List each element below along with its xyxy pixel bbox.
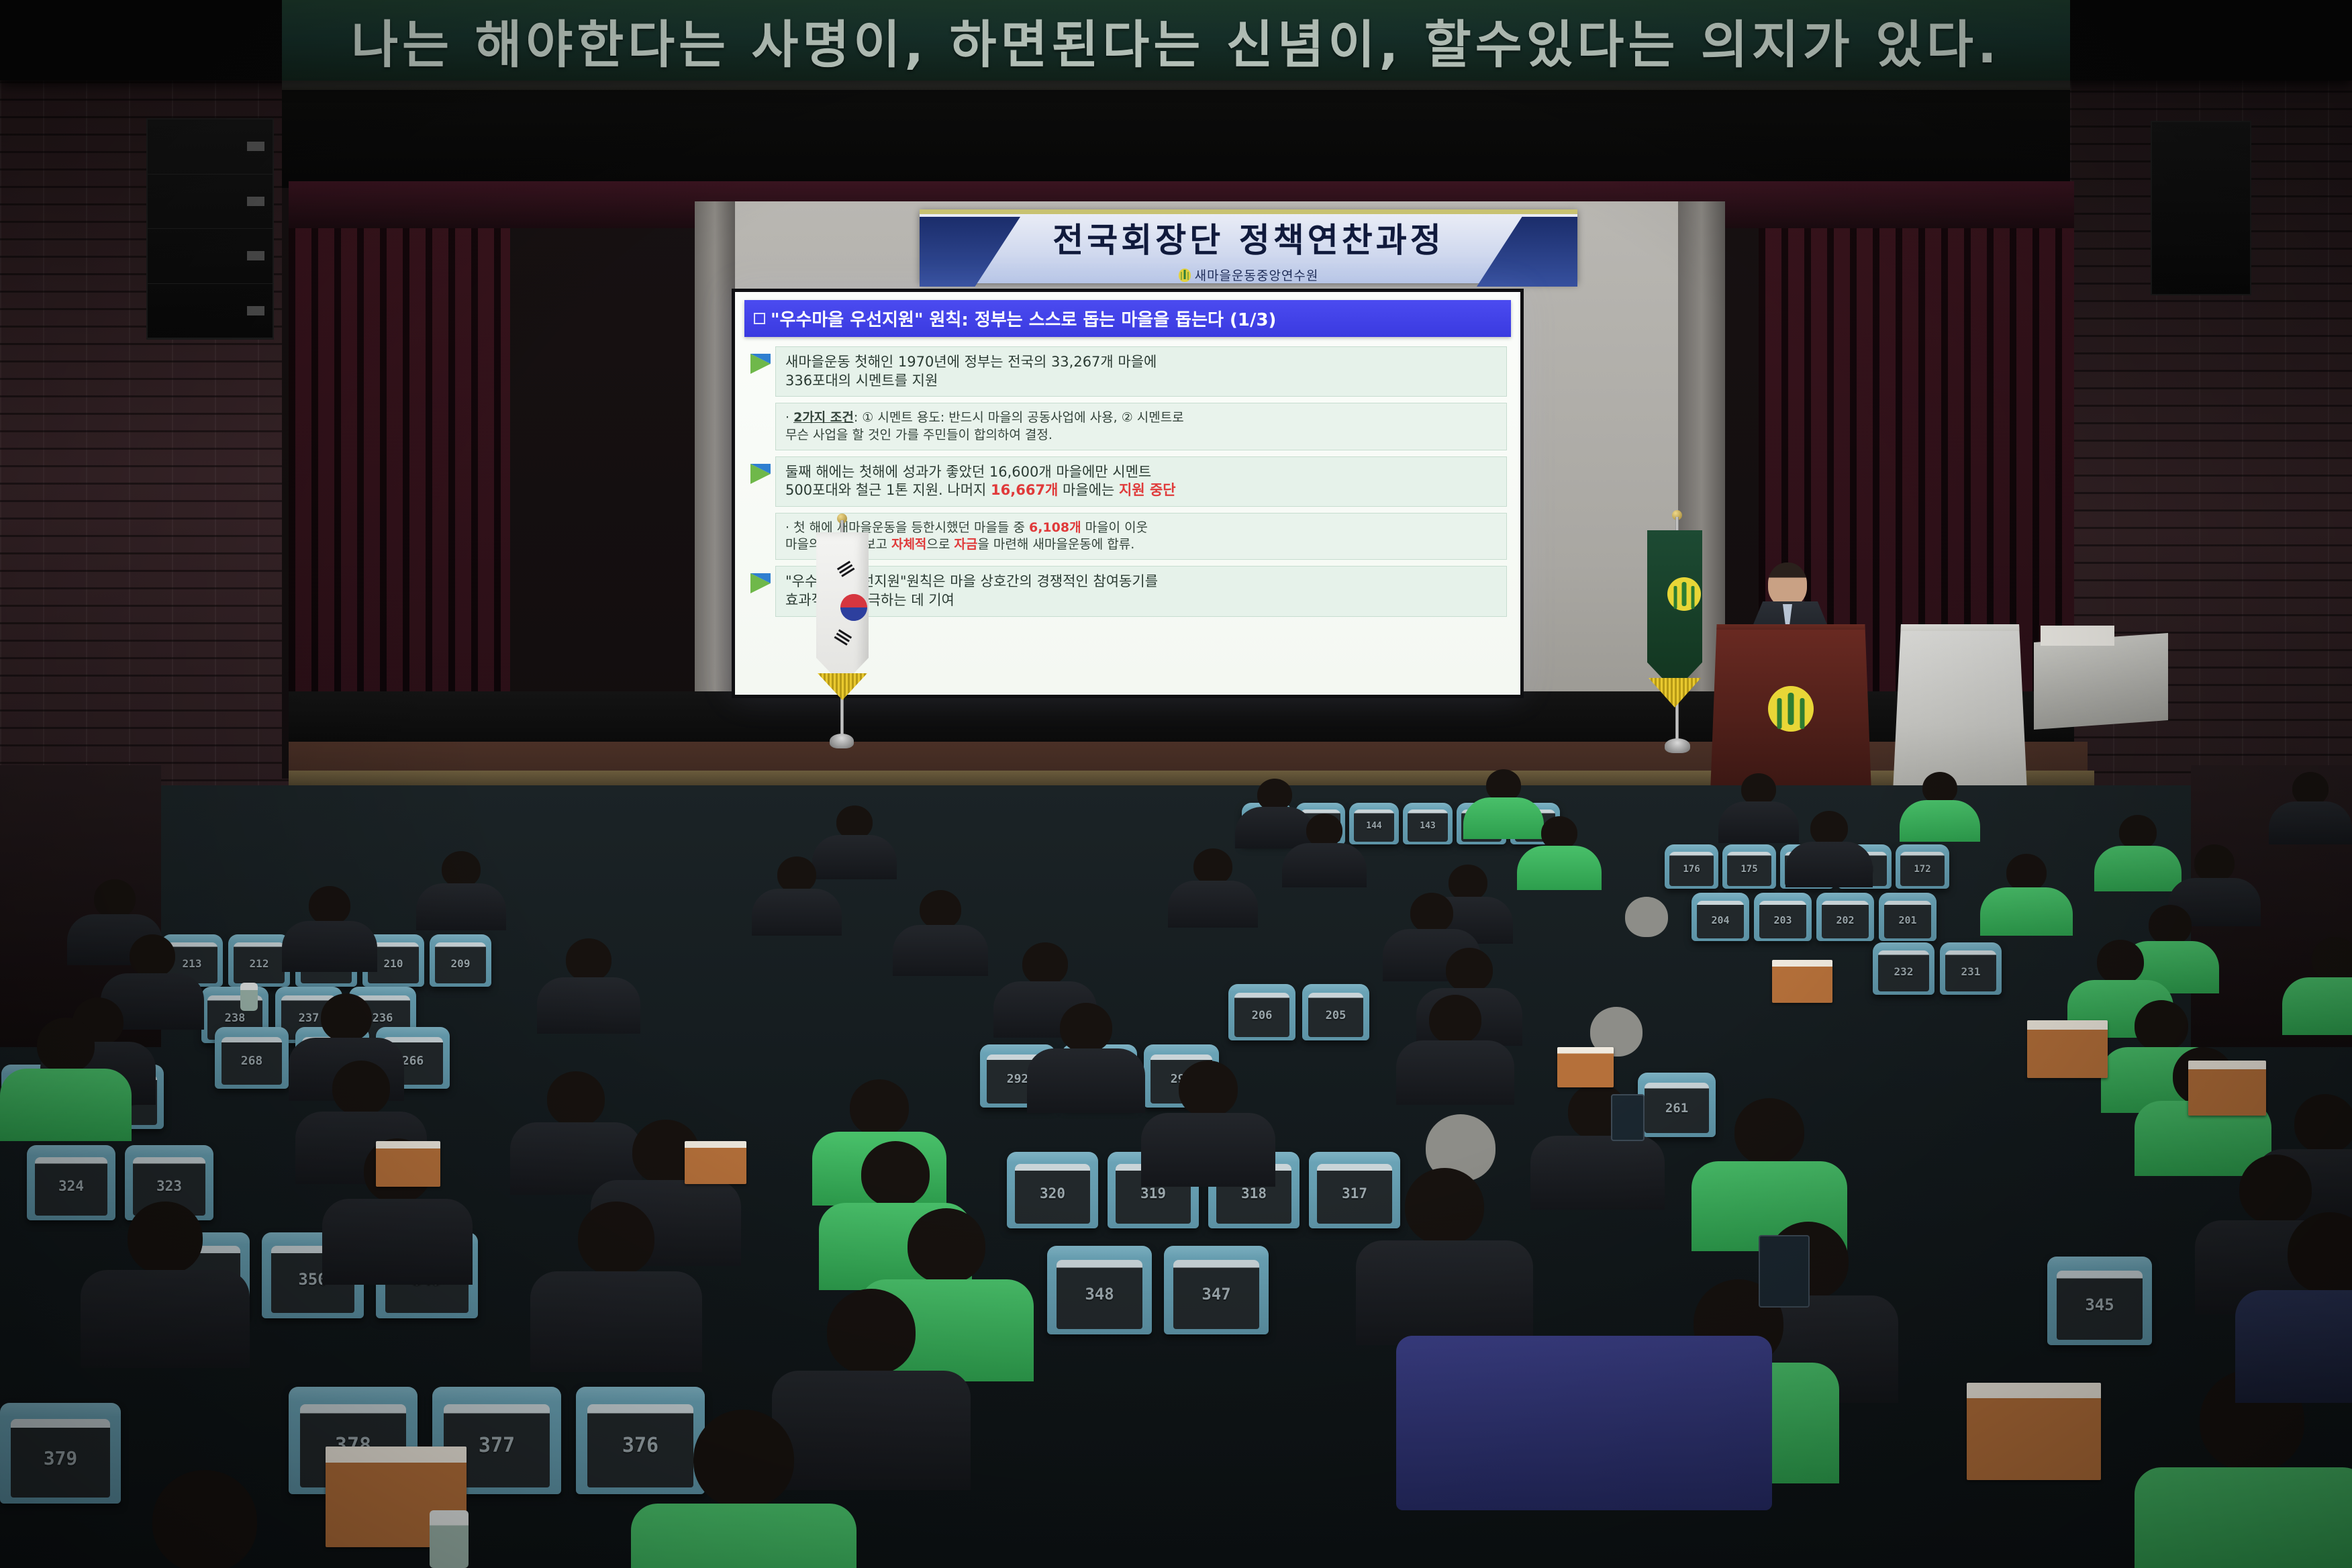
audience-head bbox=[37, 1018, 95, 1073]
slide-block-3: 둘째 해에는 첫해에 성과가 좋았던 16,600개 마을에만 시멘트 500포… bbox=[775, 456, 1507, 507]
audience-shoulders bbox=[282, 921, 377, 972]
audience-shoulders bbox=[1900, 800, 1980, 842]
slide-block-2-line2: 무슨 사업을 할 것인 가를 주민들이 합의하여 결정. bbox=[785, 427, 1497, 444]
audience-head bbox=[2097, 940, 2144, 984]
saemaul-emblem-icon bbox=[1768, 686, 1814, 732]
audience-member bbox=[1785, 811, 1873, 891]
audience-shoulders bbox=[752, 889, 842, 936]
audience-head bbox=[94, 879, 136, 918]
audience-member bbox=[2282, 937, 2352, 1039]
audience-head bbox=[2294, 1094, 2352, 1153]
audience-shoulders bbox=[1517, 846, 1602, 890]
handout-folder[interactable] bbox=[1772, 960, 1832, 1003]
auditorium-seat[interactable]: 206 bbox=[1228, 984, 1295, 1040]
arrow-bullet-icon bbox=[750, 354, 771, 374]
audience-member bbox=[2235, 1212, 2352, 1407]
seat-number: 202 bbox=[1816, 914, 1874, 926]
square-bullet-icon bbox=[754, 313, 765, 324]
audience-shoulders bbox=[1356, 1240, 1533, 1345]
audience-member bbox=[81, 1202, 250, 1372]
auditorium-screenshot: 나는 해야한다는 사명이, 하면된다는 신념이, 할수있다는 의지가 있다. 전… bbox=[0, 0, 2352, 1568]
audience-member bbox=[1396, 995, 1514, 1109]
audience-head bbox=[1810, 811, 1848, 846]
auditorium-seat[interactable]: 231 bbox=[1940, 942, 2002, 995]
audience-head bbox=[1541, 816, 1577, 850]
white-lectern: 새마을 bbox=[1893, 624, 2027, 792]
banner-left-edge bbox=[0, 0, 282, 81]
saemaul-leaf-icon bbox=[1179, 268, 1191, 282]
audience-shoulders bbox=[1530, 1136, 1665, 1210]
audience-head bbox=[2288, 1212, 2352, 1294]
stage-curtain-left bbox=[289, 188, 510, 745]
audience-shoulders bbox=[1027, 1048, 1145, 1113]
slide-block-5-line2: 효과적으로 자극하는 데 기여 bbox=[785, 591, 1497, 610]
slide-highlight-16667: 16,667개 bbox=[991, 482, 1058, 498]
audience-shoulders bbox=[1785, 842, 1873, 887]
seat-number: 176 bbox=[1665, 864, 1718, 875]
audience-head bbox=[547, 1071, 605, 1126]
audience-shoulders bbox=[416, 883, 506, 930]
banner-bottom-lip bbox=[282, 79, 2070, 90]
audience-head bbox=[827, 1289, 916, 1375]
auditorium-seat[interactable]: 212 bbox=[228, 934, 290, 987]
audience-head bbox=[2312, 937, 2352, 981]
auditorium-seat[interactable]: 204 bbox=[1692, 893, 1749, 941]
audience-member bbox=[87, 1470, 322, 1568]
seat-number: 204 bbox=[1692, 914, 1749, 926]
auditorium-seat[interactable]: 175 bbox=[1722, 844, 1776, 889]
auditorium-seat[interactable]: 202 bbox=[1816, 893, 1874, 941]
audience-shoulders bbox=[0, 1069, 132, 1141]
drink-tumbler[interactable] bbox=[430, 1510, 469, 1568]
auditorium-seat[interactable]: 203 bbox=[1754, 893, 1812, 941]
audience-head bbox=[1306, 814, 1342, 847]
handout-folder[interactable] bbox=[2027, 1020, 2108, 1078]
audience-shoulders bbox=[1282, 843, 1367, 887]
seat-number: 379 bbox=[0, 1447, 121, 1469]
audience-shoulders bbox=[530, 1271, 702, 1372]
audience-head bbox=[1179, 1061, 1238, 1117]
slide-block-1-line2: 336포대의 시멘트를 지원 bbox=[785, 372, 1497, 391]
banner-right-edge bbox=[2070, 0, 2352, 81]
seat-number: 209 bbox=[430, 957, 491, 970]
slide-title-text: "우수마을 우선지원" 원칙: 정부는 스스로 돕는 마을을 돕는다 (1/3) bbox=[771, 306, 1276, 331]
auditorium-seat[interactable]: 348 bbox=[1047, 1246, 1152, 1334]
seat-number: 205 bbox=[1302, 1009, 1369, 1022]
audience-member bbox=[1141, 1061, 1275, 1191]
audience-head bbox=[1486, 769, 1521, 801]
seat-number: 348 bbox=[1047, 1285, 1152, 1304]
audience-head bbox=[2135, 1000, 2188, 1051]
audience-head bbox=[850, 1079, 909, 1136]
saemaul-flag bbox=[1638, 517, 1718, 792]
audience-shoulders bbox=[631, 1504, 856, 1568]
auditorium-seat[interactable]: 209 bbox=[430, 934, 491, 987]
right-speaker-array bbox=[2151, 121, 2251, 295]
audience-shoulders bbox=[322, 1199, 473, 1285]
audience-shoulders bbox=[1396, 1040, 1514, 1105]
slide-highlight-self: 자체적 bbox=[891, 537, 926, 552]
audience-member bbox=[537, 938, 640, 1038]
audience-head bbox=[861, 1141, 930, 1207]
seat-number: 143 bbox=[1403, 821, 1453, 831]
auditorium-seat[interactable]: 143 bbox=[1403, 803, 1453, 844]
audience-member bbox=[631, 1410, 856, 1568]
slide-block-4-line2: 마을의 성공을 보고 자체적으로 자금을 마련해 새마을운동에 합류. bbox=[785, 536, 1497, 553]
seat-number: 345 bbox=[2047, 1295, 2152, 1314]
audience-shoulders bbox=[893, 925, 988, 976]
audience-head bbox=[777, 856, 816, 893]
seat-number: 203 bbox=[1754, 914, 1812, 926]
taegukgi-cloth bbox=[816, 532, 869, 685]
av-equipment-table bbox=[2034, 633, 2168, 730]
handout-folder[interactable] bbox=[376, 1141, 440, 1187]
trigram-icon bbox=[837, 560, 850, 570]
audience-shoulders bbox=[2282, 977, 2352, 1035]
top-slogan-text: 나는 해야한다는 사명이, 하면된다는 신념이, 할수있다는 의지가 있다. bbox=[351, 3, 2001, 77]
audience-head bbox=[693, 1410, 794, 1508]
flag-fringe bbox=[818, 673, 867, 700]
audience-member bbox=[1530, 1083, 1665, 1214]
saemaul-flag-cloth bbox=[1647, 530, 1702, 691]
auditorium-seat[interactable]: 347 bbox=[1164, 1246, 1269, 1334]
audience-shoulders bbox=[81, 1270, 250, 1368]
top-slogan-banner: 나는 해야한다는 사명이, 하면된다는 신념이, 할수있다는 의지가 있다. bbox=[0, 0, 2352, 81]
audience-head bbox=[1625, 897, 1668, 937]
seat-number: 206 bbox=[1228, 1009, 1295, 1022]
folded-blanket bbox=[1396, 1336, 1772, 1510]
handout-folder[interactable] bbox=[2188, 1061, 2266, 1116]
audience-member bbox=[752, 856, 842, 940]
audience-head bbox=[566, 938, 611, 981]
flag-stand bbox=[830, 734, 854, 748]
slide-block-2-underline: 2가지 조건 bbox=[793, 410, 854, 425]
stage-banner-title: 전국회장단 정책연찬과정 bbox=[1052, 213, 1444, 262]
audience-shoulders bbox=[1980, 887, 2073, 936]
arrow-bullet-icon bbox=[750, 573, 771, 593]
slide-block-3-line1: 둘째 해에는 첫해에 성과가 좋았던 16,600개 마을에만 시멘트 bbox=[785, 463, 1497, 482]
audience-head bbox=[1410, 893, 1453, 933]
seat-number: 323 bbox=[125, 1178, 213, 1194]
auditorium-seat[interactable]: 345 bbox=[2047, 1257, 2152, 1345]
audience-head bbox=[836, 805, 873, 839]
handout-folder[interactable] bbox=[685, 1141, 746, 1184]
stage-header-banner: 전국회장단 정책연찬과정 새마을운동중앙연수원 bbox=[920, 209, 1577, 283]
audience-head bbox=[1022, 942, 1068, 985]
audience-head bbox=[128, 1202, 203, 1274]
auditorium-seat[interactable]: 205 bbox=[1302, 984, 1369, 1040]
audience-head bbox=[2006, 854, 2047, 891]
audience-shoulders bbox=[2269, 801, 2352, 844]
slide-block-2: · 2가지 조건: ① 시멘트 용도: 반드시 마을의 공동사업에 사용, ② … bbox=[775, 403, 1507, 450]
auditorium-seat[interactable]: 201 bbox=[1879, 893, 1937, 941]
audience-shoulders bbox=[1598, 933, 1696, 985]
seat-number: 175 bbox=[1722, 864, 1776, 875]
seat-number: 172 bbox=[1896, 864, 1949, 875]
audience-head bbox=[152, 1470, 257, 1568]
audience-head bbox=[1405, 1168, 1484, 1244]
audience-head bbox=[1734, 1098, 1804, 1165]
slide-block-1-line1: 새마을운동 첫해인 1970년에 정부는 전국의 33,267개 마을에 bbox=[785, 353, 1497, 372]
audience-member bbox=[1598, 897, 1696, 989]
slide-block-2-line1: · 2가지 조건: ① 시멘트 용도: 반드시 마을의 공동사업에 사용, ② … bbox=[785, 409, 1497, 426]
seat-number: 238 bbox=[201, 1012, 268, 1025]
audience-head bbox=[442, 851, 481, 887]
audience-head bbox=[1060, 1003, 1112, 1052]
smartphone[interactable] bbox=[1611, 1094, 1645, 1141]
slide-highlight-6108: 6,108개 bbox=[1029, 520, 1081, 535]
slide-block-5: "우수마을 우선지원"원칙은 마을 상호간의 경쟁적인 참여동기를 효과적으로 … bbox=[775, 566, 1507, 616]
audience-head bbox=[908, 1208, 985, 1283]
presenter-head bbox=[1768, 562, 1807, 607]
audience-head bbox=[1193, 848, 1232, 885]
audience-member bbox=[2269, 772, 2352, 848]
slide-title-bar: "우수마을 우선지원" 원칙: 정부는 스스로 돕는 마을을 돕는다 (1/3) bbox=[744, 300, 1511, 337]
seat-number: 320 bbox=[1007, 1185, 1098, 1202]
auditorium-seat[interactable]: 268 bbox=[215, 1027, 289, 1089]
flag-stand bbox=[1665, 738, 1690, 753]
slide-highlight-funds: 자금 bbox=[954, 537, 977, 552]
stage-banner-org-text: 새마을운동중앙연수원 bbox=[1195, 266, 1319, 284]
flag-fringe bbox=[1649, 678, 1701, 707]
audience-member bbox=[1282, 814, 1367, 891]
audience-member bbox=[1900, 772, 1980, 846]
seat-number: 347 bbox=[1164, 1285, 1269, 1304]
drink-tumbler[interactable] bbox=[240, 983, 258, 1011]
audience-head bbox=[2292, 772, 2329, 805]
seat-number: 232 bbox=[1873, 965, 1934, 978]
audience-member bbox=[530, 1202, 702, 1376]
audience-member bbox=[1356, 1168, 1533, 1349]
seat-number: 201 bbox=[1879, 914, 1937, 926]
seat-number: 231 bbox=[1940, 965, 2002, 978]
audience-head bbox=[2149, 905, 2192, 945]
slide-block-1: 새마을운동 첫해인 1970년에 정부는 전국의 33,267개 마을에 336… bbox=[775, 346, 1507, 397]
audience-member bbox=[416, 851, 506, 934]
auditorium-seat[interactable]: 172 bbox=[1896, 844, 1949, 889]
south-korea-flag bbox=[805, 520, 879, 789]
audience-shoulders bbox=[537, 977, 640, 1034]
audience-shoulders bbox=[1141, 1113, 1275, 1187]
audience-head bbox=[2194, 844, 2235, 882]
audience-member bbox=[1027, 1003, 1145, 1117]
audience-head bbox=[1257, 779, 1292, 811]
audience-shoulders bbox=[1168, 881, 1258, 928]
av-equipment-box bbox=[2041, 626, 2114, 646]
audience-head bbox=[309, 886, 350, 925]
handout-folder[interactable] bbox=[1557, 1047, 1614, 1087]
seat-number: 324 bbox=[27, 1178, 115, 1194]
audience-head bbox=[578, 1202, 654, 1275]
slide-block-3-line2: 500포대와 철근 1톤 지원. 나머지 16,667개 마을에는 지원 중단 bbox=[785, 481, 1497, 500]
audience-shoulders bbox=[2235, 1290, 2352, 1403]
left-speaker-array bbox=[146, 118, 274, 340]
saemaul-emblem-icon bbox=[1667, 577, 1701, 611]
taeguk-icon bbox=[836, 589, 873, 626]
audience-member bbox=[1980, 854, 2073, 940]
seat-number: 212 bbox=[228, 957, 290, 970]
slide-block-4: · 첫 해에 새마을운동을 등한시했던 마을들 중 6,108개 마을이 이웃 … bbox=[775, 513, 1507, 560]
audience-member bbox=[0, 1018, 132, 1145]
audience-member bbox=[1168, 848, 1258, 932]
seat-number: 268 bbox=[215, 1054, 289, 1068]
auditorium-seat[interactable]: 232 bbox=[1873, 942, 1934, 995]
audience-head bbox=[1741, 773, 1776, 805]
audience-member bbox=[1517, 816, 1602, 894]
audience-head bbox=[2119, 815, 2157, 850]
audience-head bbox=[1446, 948, 1493, 992]
audience-head bbox=[1922, 772, 1957, 804]
audience-head bbox=[1429, 995, 1481, 1044]
smartphone[interactable] bbox=[1759, 1235, 1810, 1308]
audience-shoulders bbox=[2135, 1467, 2352, 1568]
slide-block-4-line1: · 첫 해에 새마을운동을 등한시했던 마을들 중 6,108개 마을이 이웃 bbox=[785, 520, 1497, 536]
handout-folder[interactable] bbox=[1967, 1383, 2101, 1480]
wooden-podium bbox=[1710, 624, 1871, 792]
audience-head bbox=[130, 934, 175, 977]
audience-head bbox=[321, 993, 372, 1042]
slide-highlight-stop: 지원 중단 bbox=[1119, 482, 1176, 498]
audience-member bbox=[893, 890, 988, 980]
slide-block-5-line1: "우수마을 우선지원"원칙은 마을 상호간의 경쟁적인 참여동기를 bbox=[785, 573, 1497, 591]
audience-head bbox=[920, 890, 961, 929]
stage-banner-org: 새마을운동중앙연수원 bbox=[1179, 266, 1319, 284]
trigram-icon bbox=[838, 629, 852, 638]
auditorium-seat[interactable]: 176 bbox=[1665, 844, 1718, 889]
audience-member bbox=[282, 886, 377, 976]
arrow-bullet-icon bbox=[750, 464, 771, 484]
audience-head bbox=[332, 1061, 390, 1116]
white-drape-left bbox=[695, 201, 735, 738]
